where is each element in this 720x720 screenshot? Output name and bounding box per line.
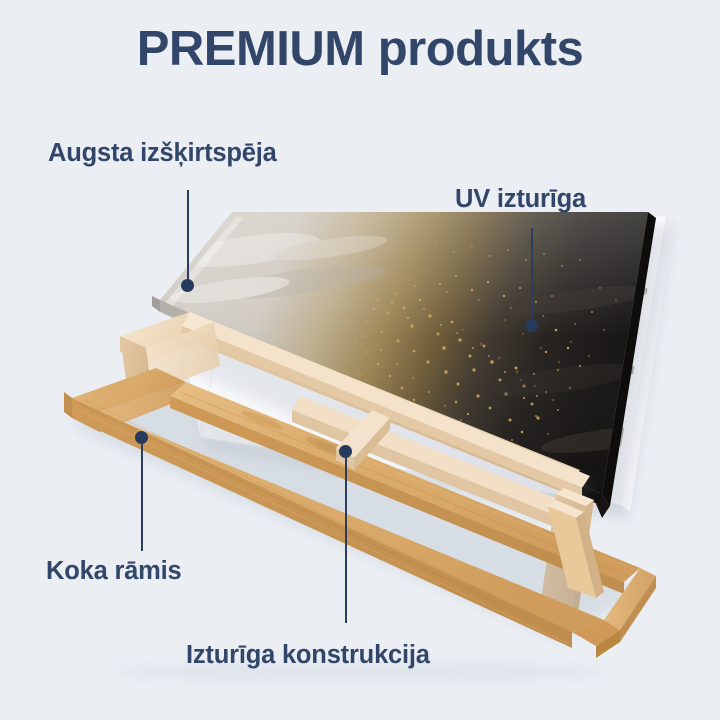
callout-label-high-resolution: Augsta izšķirtspēja: [48, 139, 277, 168]
infographic-canvas: PREMIUM produkts Augsta izšķirtspēja UV …: [0, 0, 720, 720]
leader-line-stem: [187, 190, 189, 286]
leader-line-stem: [531, 228, 533, 326]
callout-label-uv-resistant: UV izturīga: [455, 185, 586, 214]
page-title: PREMIUM produkts: [0, 24, 720, 75]
leader-line-stem: [141, 437, 143, 551]
exploded-product-illustration: [0, 0, 720, 720]
leader-line-stem: [345, 451, 347, 623]
callout-label-wooden-frame: Koka rāmis: [46, 557, 182, 586]
callout-label-durable-construction: Izturīga konstrukcija: [186, 641, 430, 670]
